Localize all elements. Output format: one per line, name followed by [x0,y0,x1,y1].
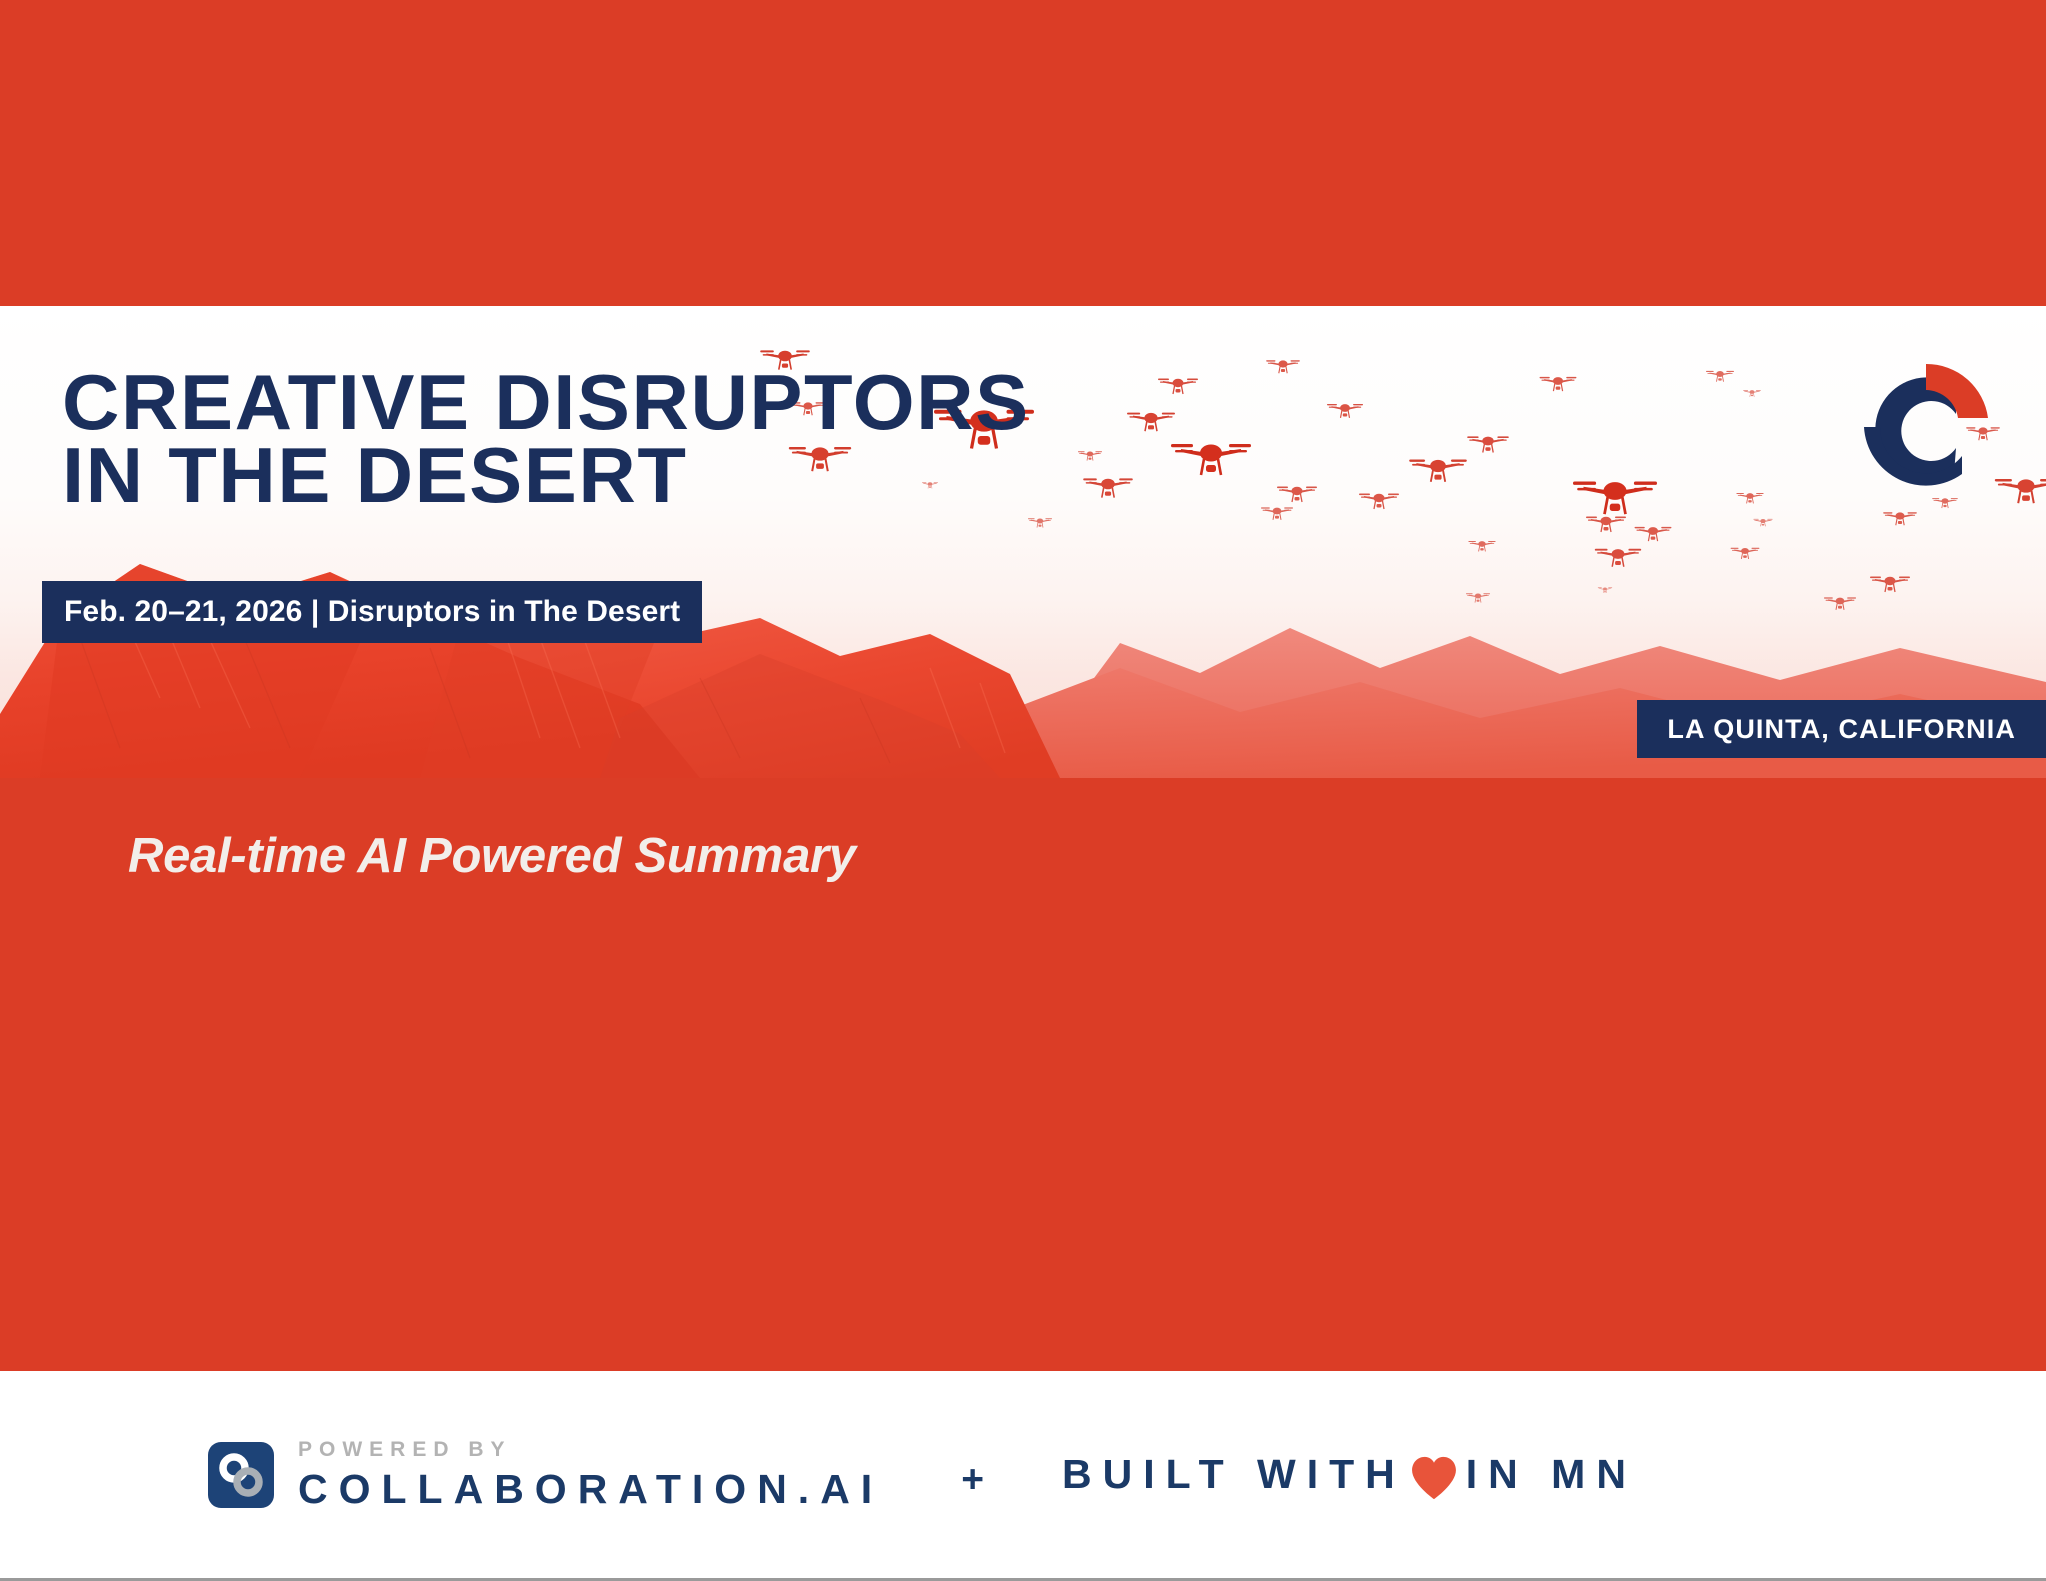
page-title: CREATIVE DISRUPTORS IN THE DESERT [62,366,1030,513]
built-with-label: BUILT WITH [1062,1451,1406,1498]
plus-separator: + [961,1458,984,1502]
slide-canvas: CREATIVE DISRUPTORS IN THE DESERT Feb. 2… [0,0,2046,1581]
collaboration-ai-logo-icon [208,1442,274,1508]
built-with-love-block: BUILT WITH IN MN [1062,1449,1637,1501]
brand-block: POWERED BY COLLABORATION.AI [298,1439,883,1510]
date-badge-label: Feb. 20–21, 2026 | Disruptors in The Des… [64,595,680,629]
top-red-band [0,0,2046,306]
heart-icon [1408,1452,1460,1504]
brand-name-label: COLLABORATION.AI [298,1469,883,1510]
date-badge: Feb. 20–21, 2026 | Disruptors in The Des… [42,581,702,643]
footer-bar: POWERED BY COLLABORATION.AI + BUILT WITH… [0,1371,2046,1578]
in-mn-label: IN MN [1466,1451,1637,1498]
c-logo-icon [1852,352,2000,502]
slide-subtitle: Real-time AI Powered Summary [128,828,856,884]
powered-by-label: POWERED BY [298,1439,883,1460]
location-badge: LA QUINTA, CALIFORNIA [1637,700,2046,758]
footer-content: POWERED BY COLLABORATION.AI + BUILT WITH… [208,1439,1637,1510]
location-badge-label: LA QUINTA, CALIFORNIA [1667,714,2016,745]
